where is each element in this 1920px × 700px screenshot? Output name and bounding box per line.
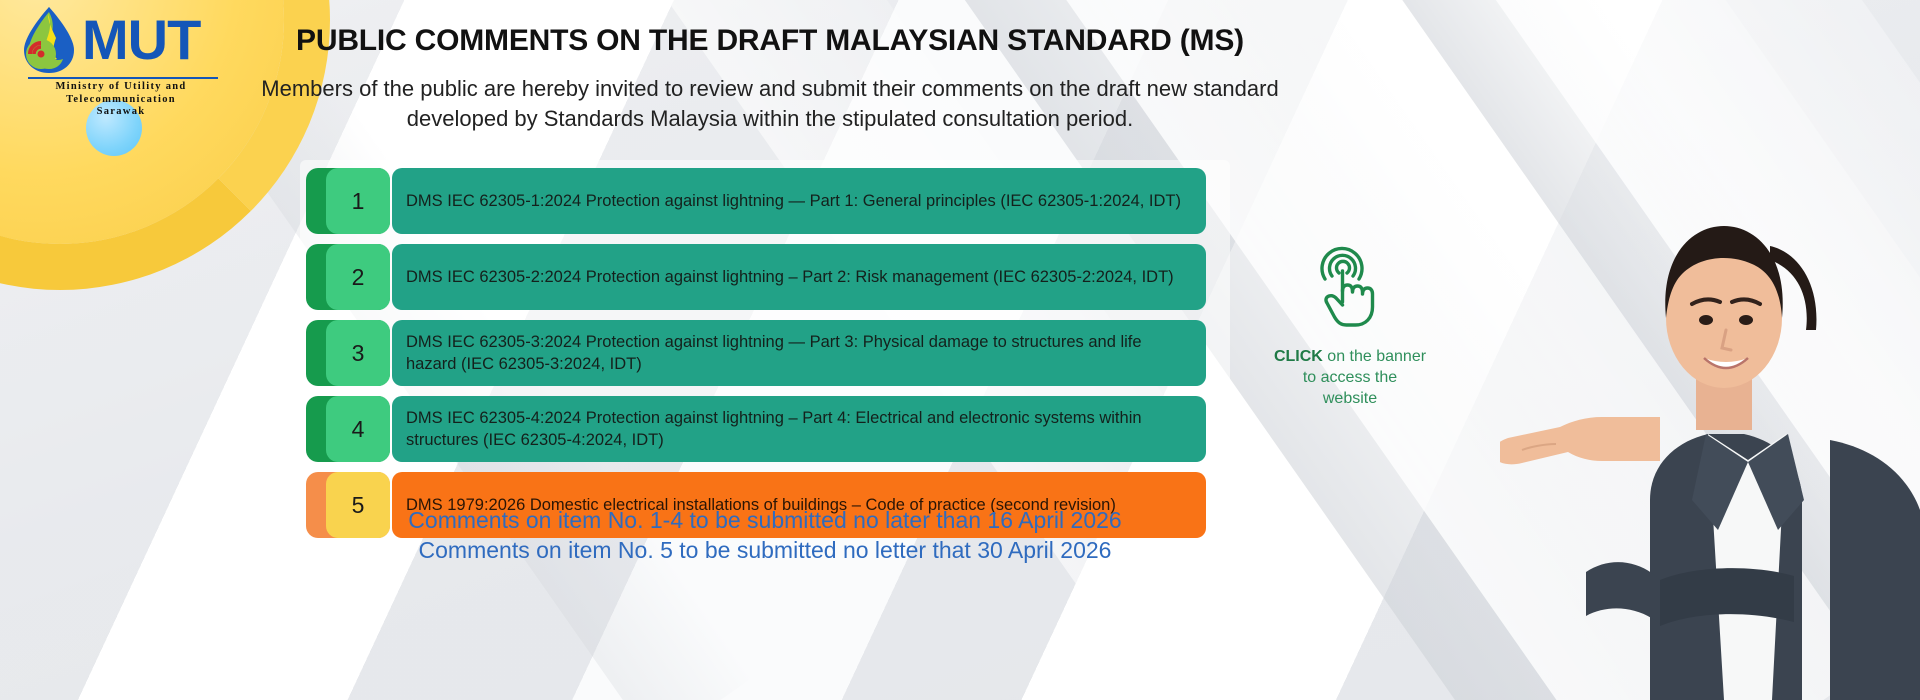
logo-subtitle: Ministry of Utility and Telecommunicatio… <box>18 81 224 119</box>
public-comments-banner: MUT Ministry of Utility and Telecommunic… <box>0 0 1920 700</box>
row-bar[interactable]: DMS IEC 62305-1:2024 Protection against … <box>392 168 1206 234</box>
callout-text: CLICK on the banner to access the websit… <box>1245 346 1455 409</box>
row-number: 2 <box>326 244 390 310</box>
logo-subtitle-line-2: Telecommunication <box>18 94 224 107</box>
water-droplet-flame-icon <box>18 4 80 76</box>
row-bar[interactable]: DMS IEC 62305-2:2024 Protection against … <box>392 244 1206 310</box>
deadlines: Comments on item No. 1-4 to be submitted… <box>300 505 1230 565</box>
callout-line-1: CLICK on the banner <box>1245 346 1455 367</box>
page-title: PUBLIC COMMENTS ON THE DRAFT MALAYSIAN S… <box>230 22 1310 60</box>
row-number-badge: 2 <box>306 244 390 310</box>
row-bar[interactable]: DMS IEC 62305-3:2024 Protection against … <box>392 320 1206 386</box>
standards-row-4[interactable]: 4 DMS IEC 62305-4:2024 Protection agains… <box>306 396 1206 462</box>
click-callout[interactable]: CLICK on the banner to access the websit… <box>1245 245 1455 409</box>
row-number-badge: 4 <box>306 396 390 462</box>
standards-list: 1 DMS IEC 62305-1:2024 Protection agains… <box>306 168 1206 548</box>
logo-brand-text: MUT <box>82 9 200 71</box>
row-number-badge: 3 <box>306 320 390 386</box>
row-number: 3 <box>326 320 390 386</box>
standards-row-1[interactable]: 1 DMS IEC 62305-1:2024 Protection agains… <box>306 168 1206 234</box>
businesswoman-presenting-photo <box>1500 200 1920 700</box>
logo-divider <box>28 77 218 79</box>
row-bar[interactable]: DMS IEC 62305-4:2024 Protection against … <box>392 396 1206 462</box>
standards-row-2[interactable]: 2 DMS IEC 62305-2:2024 Protection agains… <box>306 244 1206 310</box>
row-text: DMS IEC 62305-4:2024 Protection against … <box>406 407 1192 451</box>
page-subtitle: Members of the public are hereby invited… <box>230 74 1310 134</box>
row-number: 1 <box>326 168 390 234</box>
standards-row-3[interactable]: 3 DMS IEC 62305-3:2024 Protection agains… <box>306 320 1206 386</box>
row-text: DMS IEC 62305-1:2024 Protection against … <box>406 190 1181 212</box>
row-number: 4 <box>326 396 390 462</box>
callout-line-3: website <box>1245 388 1455 409</box>
row-text: DMS IEC 62305-3:2024 Protection against … <box>406 331 1192 375</box>
row-number-badge: 1 <box>306 168 390 234</box>
header: PUBLIC COMMENTS ON THE DRAFT MALAYSIAN S… <box>230 22 1310 134</box>
row-text: DMS IEC 62305-2:2024 Protection against … <box>406 266 1174 288</box>
callout-line-2: to access the <box>1245 367 1455 388</box>
callout-rest: on the banner <box>1323 348 1426 365</box>
callout-emphasis: CLICK <box>1274 348 1323 365</box>
deadline-line-2: Comments on item No. 5 to be submitted n… <box>300 535 1230 565</box>
mut-logo: MUT Ministry of Utility and Telecommunic… <box>18 4 228 112</box>
logo-row: MUT <box>18 4 228 76</box>
logo-subtitle-line-3: Sarawak <box>18 106 224 119</box>
deadline-line-1: Comments on item No. 1-4 to be submitted… <box>300 505 1230 535</box>
hand-tap-click-icon <box>1245 245 1455 340</box>
logo-subtitle-line-1: Ministry of Utility and <box>18 81 224 94</box>
